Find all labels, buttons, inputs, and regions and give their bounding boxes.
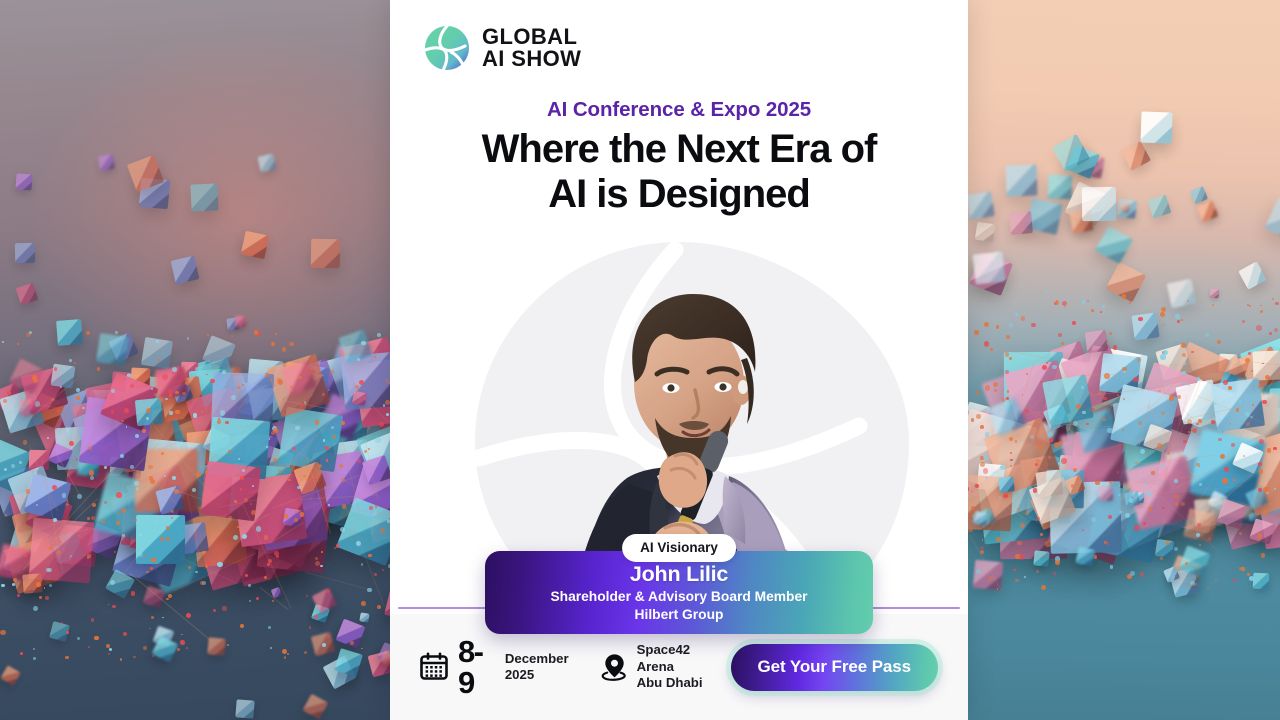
- decorative-particle: [210, 379, 214, 383]
- decorative-particle: [985, 477, 987, 479]
- decorative-cube: [235, 316, 246, 327]
- decorative-particle: [149, 628, 151, 630]
- decorative-particle: [993, 382, 998, 387]
- decorative-particle: [180, 640, 185, 645]
- venue-city: Abu Dhabi: [637, 675, 731, 692]
- decorative-particle: [89, 470, 94, 475]
- decorative-particle: [1082, 300, 1086, 304]
- decorative-particle: [26, 489, 30, 493]
- decorative-particle: [1239, 400, 1242, 403]
- decorative-particle: [1249, 305, 1251, 307]
- decorative-particle: [1233, 579, 1236, 582]
- decorative-particle: [377, 333, 381, 337]
- decorative-particle: [284, 656, 287, 659]
- decorative-cube: [998, 476, 1015, 493]
- location-text-block: Space42 Arena Abu Dhabi: [637, 642, 731, 692]
- decorative-particle: [82, 407, 84, 409]
- decorative-particle: [361, 601, 366, 606]
- decorative-particle: [94, 636, 99, 641]
- decorative-particle: [86, 331, 90, 335]
- decorative-particle: [1140, 449, 1145, 454]
- decorative-particle: [169, 394, 172, 397]
- decorative-particle: [272, 600, 274, 602]
- decorative-particle: [152, 655, 154, 657]
- event-date: 8-9 December 2025: [419, 636, 569, 698]
- decorative-particle: [1256, 325, 1261, 330]
- decorative-particle: [202, 551, 206, 555]
- decorative-particle: [1061, 458, 1066, 463]
- decorative-particle: [1130, 571, 1135, 576]
- decorative-particle: [1175, 314, 1179, 318]
- decorative-particle: [336, 544, 340, 548]
- decorative-particle: [1232, 478, 1236, 482]
- decorative-particle: [374, 356, 376, 358]
- decorative-particle: [60, 386, 62, 388]
- decorative-particle: [62, 493, 67, 498]
- decorative-particle: [375, 437, 380, 442]
- decorative-particle: [1041, 585, 1046, 590]
- decorative-particle: [192, 488, 196, 492]
- decorative-particle: [256, 597, 259, 600]
- decorative-particle: [1129, 498, 1133, 502]
- decorative-particle: [1133, 377, 1138, 382]
- decorative-particle: [97, 367, 100, 370]
- poster-card: GLOBAL AI SHOW AI Conference & Expo 2025…: [390, 0, 968, 720]
- decorative-particle: [143, 646, 147, 650]
- decorative-particle: [270, 647, 272, 649]
- decorative-particle: [1053, 585, 1055, 587]
- decorative-particle: [151, 616, 154, 619]
- decorative-particle: [20, 652, 23, 655]
- date-year: 2025: [505, 667, 569, 683]
- decorative-particle: [1113, 345, 1118, 350]
- decorative-particle: [65, 450, 67, 452]
- decorative-particle: [1162, 507, 1164, 509]
- decorative-particle: [76, 458, 78, 460]
- decorative-particle: [983, 455, 987, 459]
- decorative-particle: [220, 410, 225, 415]
- decorative-particle: [1174, 547, 1179, 552]
- decorative-particle: [1076, 404, 1081, 409]
- decorative-particle: [249, 600, 251, 602]
- decorative-particle: [74, 362, 76, 364]
- decorative-particle: [274, 551, 279, 556]
- decorative-particle: [235, 473, 237, 475]
- decorative-particle: [1103, 397, 1106, 400]
- decorative-particle: [251, 510, 256, 515]
- decorative-particle: [1261, 553, 1266, 558]
- decorative-particle: [1275, 302, 1278, 305]
- decorative-particle: [161, 452, 164, 455]
- decorative-particle: [996, 325, 1000, 329]
- decorative-particle: [158, 397, 162, 401]
- decorative-cube: [96, 333, 128, 365]
- decorative-particle: [108, 604, 110, 606]
- decorative-particle: [383, 404, 386, 407]
- decorative-particle: [33, 648, 35, 650]
- decorative-particle: [1055, 301, 1059, 305]
- decorative-particle: [116, 492, 121, 497]
- decorative-particle: [222, 606, 226, 610]
- decorative-particle: [1162, 324, 1164, 326]
- date-month-year: December 2025: [505, 651, 569, 683]
- poster-stage: GLOBAL AI SHOW AI Conference & Expo 2025…: [0, 0, 1280, 720]
- decorative-particle: [334, 547, 336, 549]
- speaker-organization: Hilbert Group: [485, 606, 873, 623]
- decorative-particle: [7, 391, 11, 395]
- decorative-particle: [1021, 316, 1026, 321]
- decorative-particle: [186, 647, 188, 649]
- decorative-particle: [1107, 428, 1112, 433]
- decorative-cube: [1075, 547, 1095, 567]
- decorative-particle: [1215, 580, 1217, 582]
- decorative-particle: [1058, 462, 1060, 464]
- headline-line-2: AI is Designed: [390, 172, 968, 217]
- decorative-particle: [985, 432, 990, 437]
- decorative-particle: [306, 595, 308, 597]
- decorative-particle: [1270, 476, 1272, 478]
- decorative-particle: [295, 426, 299, 430]
- decorative-particle: [271, 342, 275, 346]
- decorative-particle: [29, 331, 32, 334]
- decorative-cube: [15, 173, 32, 190]
- decorative-particle: [1094, 555, 1097, 558]
- decorative-cube: [235, 699, 254, 718]
- decorative-particle: [974, 330, 979, 335]
- decorative-particle: [361, 648, 363, 650]
- decorative-particle: [1229, 423, 1231, 425]
- decorative-particle: [288, 479, 290, 481]
- decorative-particle: [172, 476, 175, 479]
- decorative-particle: [982, 539, 984, 541]
- decorative-particle: [1258, 488, 1262, 492]
- decorative-particle: [162, 374, 167, 379]
- decorative-cube: [1197, 201, 1219, 223]
- decorative-particle: [205, 470, 208, 473]
- decorative-particle: [275, 333, 277, 335]
- decorative-particle: [254, 330, 258, 334]
- decorative-particle: [1054, 442, 1059, 447]
- decorative-particle: [1000, 465, 1005, 470]
- decorative-particle: [320, 565, 323, 568]
- decorative-particle: [1217, 340, 1221, 344]
- decorative-particle: [33, 657, 36, 660]
- decorative-particle: [207, 334, 209, 336]
- decorative-particle: [156, 521, 158, 523]
- decorative-particle: [33, 606, 38, 611]
- decorative-particle: [331, 426, 334, 429]
- hero-eyebrow: AI Conference & Expo 2025: [390, 98, 968, 122]
- decorative-particle: [151, 558, 156, 563]
- decorative-cube: [1140, 111, 1172, 143]
- decorative-particle: [69, 441, 74, 446]
- decorative-cube: [190, 183, 218, 211]
- decorative-particle: [972, 514, 976, 518]
- decorative-cube: [171, 255, 200, 284]
- decorative-particle: [1248, 352, 1251, 355]
- decorative-particle: [1045, 541, 1050, 546]
- decorative-cube: [975, 222, 996, 243]
- decorative-particle: [1030, 435, 1034, 439]
- decorative-particle: [76, 388, 80, 392]
- decorative-particle: [1197, 523, 1201, 527]
- decorative-particle: [1218, 438, 1222, 442]
- decorative-particle: [172, 372, 174, 374]
- decorative-particle: [1157, 443, 1162, 448]
- decorative-particle: [187, 337, 189, 339]
- decorative-particle: [1046, 291, 1048, 293]
- decorative-particle: [1177, 320, 1180, 323]
- decorative-particle: [277, 378, 282, 383]
- decorative-particle: [1274, 328, 1278, 332]
- decorative-particle: [1072, 321, 1076, 325]
- decorative-cube: [14, 243, 34, 263]
- decorative-particle: [1064, 306, 1066, 308]
- decorative-particle: [1108, 515, 1112, 519]
- event-location: Space42 Arena Abu Dhabi: [601, 642, 731, 692]
- decorative-particle: [0, 630, 5, 635]
- decorative-particle: [1160, 354, 1165, 359]
- decorative-particle: [1259, 439, 1264, 444]
- decorative-cube: [1048, 174, 1073, 199]
- decorative-particle: [1258, 462, 1262, 466]
- decorative-particle: [1102, 305, 1104, 307]
- decorative-particle: [1015, 579, 1018, 582]
- decorative-particle: [983, 547, 985, 549]
- date-days: 8-9: [458, 636, 498, 698]
- headline-line-1: Where the Next Era of: [390, 127, 968, 172]
- decorative-particle: [1, 584, 4, 587]
- decorative-particle: [69, 359, 72, 362]
- decorative-particle: [1095, 481, 1099, 485]
- decorative-particle: [1087, 300, 1089, 302]
- decorative-particle: [1208, 537, 1211, 540]
- decorative-particle: [120, 454, 124, 458]
- decorative-particle: [1122, 294, 1126, 298]
- decorative-particle: [1077, 477, 1081, 481]
- decorative-particle: [1012, 427, 1014, 429]
- decorative-particle: [1003, 494, 1008, 499]
- decorative-particle: [228, 450, 231, 453]
- decorative-particle: [174, 344, 176, 346]
- decorative-particle: [377, 605, 381, 609]
- page-title: Where the Next Era of AI is Designed: [390, 127, 968, 217]
- decorative-cube: [1033, 550, 1049, 566]
- decorative-particle: [123, 632, 127, 636]
- decorative-particle: [1263, 487, 1268, 492]
- decorative-particle: [65, 656, 69, 660]
- decorative-particle: [1102, 418, 1106, 422]
- decorative-particle: [248, 584, 251, 587]
- decorative-link-line: [306, 572, 368, 590]
- decorative-particle: [114, 551, 116, 553]
- decorative-cube: [56, 319, 82, 345]
- decorative-particle: [171, 517, 173, 519]
- decorative-particle: [118, 377, 122, 381]
- decorative-particle: [1205, 333, 1209, 337]
- decorative-particle: [1138, 317, 1143, 322]
- decorative-particle: [160, 537, 164, 541]
- decorative-particle: [256, 526, 261, 531]
- decorative-particle: [314, 615, 317, 618]
- decorative-particle: [1241, 567, 1244, 570]
- decorative-cube: [98, 154, 115, 171]
- decorative-particle: [294, 518, 298, 522]
- decorative-particle: [980, 425, 984, 429]
- background-left-panel: [0, 0, 396, 720]
- decorative-particle: [1033, 488, 1037, 492]
- decorative-particle: [168, 594, 172, 598]
- decorative-particle: [23, 440, 28, 445]
- decorative-particle: [382, 569, 384, 571]
- decorative-particle: [282, 649, 287, 654]
- decorative-particle: [1052, 365, 1056, 369]
- decorative-particle: [1005, 370, 1009, 374]
- decorative-particle: [1110, 565, 1113, 568]
- decorative-particle: [218, 418, 220, 420]
- decorative-cube: [20, 398, 36, 414]
- decorative-particle: [1192, 428, 1197, 433]
- decorative-particle: [1249, 576, 1254, 581]
- decorative-particle: [1091, 309, 1094, 312]
- decorative-particle: [226, 364, 228, 366]
- decorative-particle: [325, 446, 329, 450]
- decorative-particle: [1181, 343, 1186, 348]
- decorative-particle: [284, 514, 288, 518]
- decorative-particle: [120, 658, 123, 661]
- decorative-particle: [131, 591, 136, 596]
- decorative-particle: [124, 408, 129, 413]
- decorative-cube: [1082, 187, 1117, 222]
- decorative-particle: [169, 411, 172, 414]
- decorative-particle: [374, 573, 377, 576]
- decorative-particle: [166, 526, 169, 529]
- decorative-particle: [104, 466, 106, 468]
- decorative-particle: [1073, 468, 1077, 472]
- decorative-particle: [245, 574, 248, 577]
- decorative-cube: [311, 239, 340, 268]
- decorative-particle: [385, 379, 388, 382]
- decorative-particle: [240, 476, 244, 480]
- decorative-particle: [1140, 572, 1145, 577]
- decorative-particle: [1160, 557, 1163, 560]
- decorative-cube: [143, 586, 166, 609]
- decorative-particle: [91, 516, 95, 520]
- decorative-particle: [1148, 507, 1152, 511]
- decorative-particle: [231, 335, 233, 337]
- decorative-particle: [242, 384, 244, 386]
- decorative-particle: [269, 438, 271, 440]
- decorative-particle: [237, 386, 239, 388]
- decorative-particle: [227, 644, 229, 646]
- decorative-particle: [188, 566, 191, 569]
- brand-name-line1: GLOBAL: [482, 26, 581, 48]
- decorative-cube: [1009, 211, 1033, 235]
- decorative-particle: [87, 517, 90, 520]
- decorative-particle: [115, 331, 118, 334]
- decorative-particle: [1042, 365, 1047, 370]
- decorative-particle: [361, 563, 363, 565]
- decorative-cube: [1042, 374, 1094, 426]
- decorative-particle: [154, 393, 157, 396]
- decorative-cube: [240, 230, 269, 259]
- decorative-particle: [1160, 312, 1165, 317]
- decorative-particle: [186, 613, 191, 618]
- decorative-particle: [108, 653, 110, 655]
- decorative-cube: [1264, 197, 1280, 242]
- decorative-particle: [44, 587, 46, 589]
- decorative-particle: [304, 651, 307, 654]
- decorative-cube: [0, 665, 20, 686]
- decorative-particle: [1055, 560, 1060, 565]
- date-month: December: [505, 651, 569, 667]
- decorative-particle: [87, 554, 91, 558]
- decorative-particle: [1015, 313, 1018, 316]
- decorative-particle: [1071, 484, 1074, 487]
- decorative-particle: [143, 555, 145, 557]
- decorative-particle: [181, 634, 183, 636]
- decorative-particle: [1017, 541, 1021, 545]
- decorative-particle: [76, 396, 80, 400]
- decorative-particle: [66, 631, 69, 634]
- date-text-block: 8-9 December 2025: [458, 636, 569, 698]
- decorative-particle: [164, 475, 166, 477]
- decorative-cube: [1006, 165, 1038, 197]
- decorative-particle: [1031, 323, 1035, 327]
- decorative-particle: [385, 400, 390, 405]
- decorative-particle: [1265, 375, 1270, 380]
- decorative-cube: [972, 252, 1005, 285]
- decorative-particle: [156, 340, 159, 343]
- decorative-particle: [36, 582, 41, 587]
- decorative-cube: [359, 612, 369, 622]
- decorative-particle: [1109, 332, 1113, 336]
- decorative-particle: [1228, 386, 1232, 390]
- decorative-particle: [1010, 459, 1012, 461]
- decorative-particle: [17, 594, 20, 597]
- decorative-particle: [1129, 301, 1131, 303]
- decorative-particle: [386, 413, 389, 416]
- decorative-particle: [116, 521, 120, 525]
- decorative-particle: [1038, 445, 1042, 449]
- decorative-particle: [1269, 332, 1272, 335]
- decorative-particle: [3, 399, 7, 403]
- decorative-particle: [39, 596, 42, 599]
- decorative-particle: [49, 584, 52, 587]
- decorative-particle: [1062, 301, 1067, 306]
- decorative-particle: [976, 391, 980, 395]
- decorative-particle: [77, 637, 80, 640]
- decorative-particle: [110, 580, 115, 585]
- brand-wordmark: GLOBAL AI SHOW: [482, 26, 581, 69]
- decorative-particle: [59, 540, 62, 543]
- calendar-icon: [419, 652, 449, 682]
- decorative-particle: [1258, 385, 1260, 387]
- decorative-particle: [1256, 446, 1258, 448]
- get-free-pass-button[interactable]: Get Your Free Pass: [731, 644, 938, 691]
- decorative-cube: [1095, 226, 1133, 264]
- decorative-cube: [303, 694, 328, 719]
- decorative-particle: [240, 624, 244, 628]
- decorative-particle: [1222, 478, 1227, 483]
- decorative-particle: [237, 526, 239, 528]
- decorative-particle: [282, 347, 286, 351]
- brand-logo[interactable]: GLOBAL AI SHOW: [421, 22, 581, 74]
- decorative-cube: [1099, 487, 1113, 501]
- decorative-particle: [88, 646, 90, 648]
- decorative-particle: [268, 626, 271, 629]
- decorative-particle: [1257, 533, 1262, 538]
